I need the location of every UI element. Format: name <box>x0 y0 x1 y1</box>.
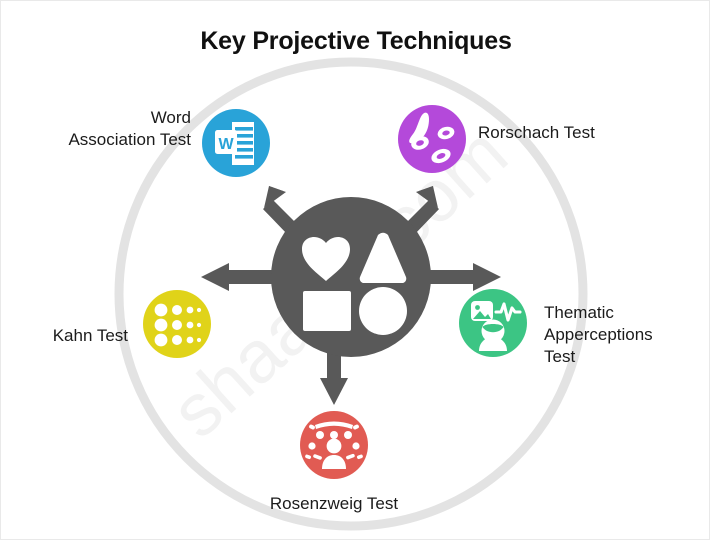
node-rosenzweig[interactable] <box>300 411 368 479</box>
projective-techniques-diagram: shaalaa.com <box>1 1 710 540</box>
diagram-canvas: shaalaa.com <box>0 0 710 540</box>
hub-circle <box>271 197 431 357</box>
node-thematic[interactable] <box>459 289 527 357</box>
page-title: Key Projective Techniques <box>1 27 710 56</box>
node-label-thematic: Thematic Apperceptions Test <box>544 302 704 368</box>
hub-square-icon <box>303 291 351 331</box>
node-label-rorschach: Rorschach Test <box>478 122 698 144</box>
node-label-word-association: Word Association Test <box>11 107 191 151</box>
central-hub[interactable] <box>271 197 431 357</box>
node-word-association[interactable]: W <box>202 109 270 177</box>
word-icon-letter: W <box>218 136 234 153</box>
node-rorschach[interactable] <box>398 105 466 173</box>
arrow-right <box>419 263 501 291</box>
node-circle-rorschach <box>398 105 466 173</box>
hub-circle-icon <box>359 287 407 335</box>
node-label-rosenzweig: Rosenzweig Test <box>214 493 454 515</box>
node-kahn[interactable] <box>143 290 211 358</box>
node-label-kahn: Kahn Test <box>6 325 128 347</box>
